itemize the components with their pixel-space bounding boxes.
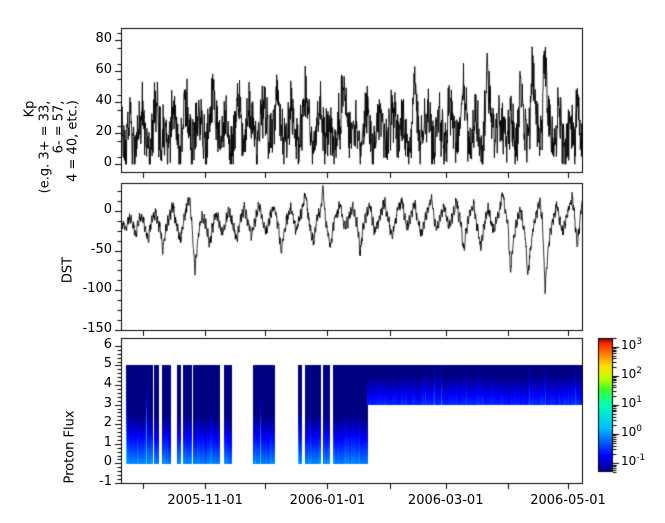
- dst-y-tick-label: 0: [104, 202, 112, 217]
- colorbar-tick-label: 103: [621, 337, 642, 352]
- dst-y-axis-label: DST: [61, 256, 76, 282]
- scientific-figure: Kp (e.g. 3+ = 33, 6- = 57, 4 = 40, etc.)…: [0, 0, 665, 523]
- kp-y-tick-label: 80: [95, 31, 112, 46]
- dst-y-tick-label: -50: [91, 242, 112, 257]
- proton-flux-y-axis-label: Proton Flux: [63, 410, 78, 483]
- kp-y-tick-label: 0: [104, 155, 112, 170]
- proton-flux-y-tick-label: 1: [104, 435, 112, 450]
- kp-y-tick-label: 60: [95, 62, 112, 77]
- x-axis-tick-label: 2005-11-01: [157, 493, 253, 508]
- kp-y-axis-label-line-2: (e.g. 3+ = 33,: [38, 100, 53, 193]
- proton-flux-y-tick-label: 6: [104, 337, 112, 352]
- x-axis-tick-label: 2006-03-01: [398, 493, 494, 508]
- plot-canvas: [0, 0, 665, 523]
- x-axis-tick-label: 2006-05-01: [520, 493, 616, 508]
- x-axis-tick-label: 2006-01-01: [279, 493, 375, 508]
- kp-y-axis-label-line-1: Kp: [23, 100, 38, 117]
- colorbar-tick-label: 101: [621, 395, 642, 410]
- kp-y-axis-label-line-4: 4 = 40, etc.): [66, 100, 81, 182]
- proton-flux-y-tick-label: 5: [104, 356, 112, 371]
- kp-y-tick-label: 20: [95, 124, 112, 139]
- proton-flux-y-tick-label: 4: [104, 376, 112, 391]
- dst-y-tick-label: -150: [82, 321, 112, 336]
- colorbar-tick-label: 102: [621, 366, 642, 381]
- colorbar-tick-label: 10-1: [621, 453, 645, 468]
- kp-y-axis-label-line-3: 6- = 57,: [52, 100, 67, 153]
- proton-flux-y-tick-label: 3: [104, 396, 112, 411]
- dst-y-tick-label: -100: [82, 281, 112, 296]
- kp-y-tick-label: 40: [95, 93, 112, 108]
- proton-flux-y-tick-label: 0: [104, 454, 112, 469]
- colorbar-tick-label: 100: [621, 424, 642, 439]
- proton-flux-y-tick-label: -1: [99, 474, 112, 489]
- proton-flux-y-tick-label: 2: [104, 415, 112, 430]
